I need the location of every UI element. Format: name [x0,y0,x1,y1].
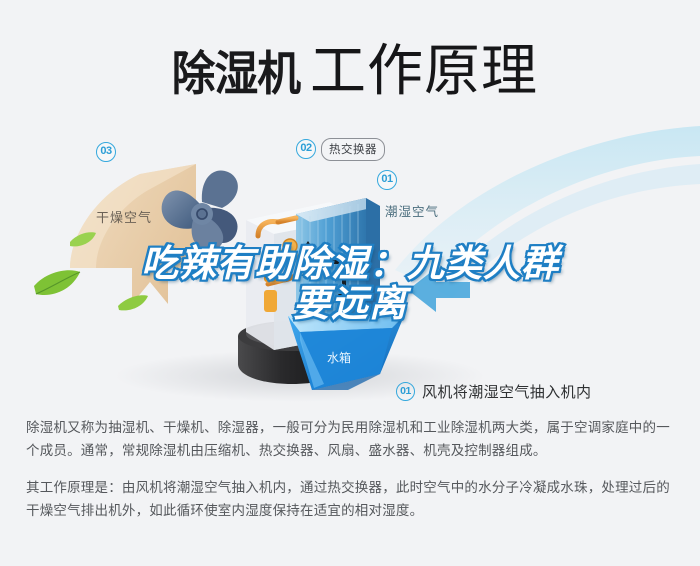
diagram-legend: 01 风机将潮湿空气抽入机内 02 潮湿空气经过蒸发器冷凝成水珠 03 从上部出… [396,374,696,408]
dehumidifier-diagram: 03 干燥空气 02 热交换器 01 潮湿空气 水箱 01 风机将潮湿空气抽入机… [0,118,700,408]
dehumidifier-infographic: 除湿机 工作原理 [0,0,700,566]
legend-badge-01: 01 [396,382,415,401]
page-title-part-a: 除湿机 [172,35,300,104]
body-paragraph-1: 除湿机又称为抽湿机、干燥机、除湿器，一般可分为民用除湿机和工业除湿机两大类，属于… [26,416,678,462]
page-title: 除湿机 工作原理 [0,26,700,102]
diagram-badge-03: 03 [96,142,116,162]
article-body: 除湿机又称为抽湿机、干燥机、除湿器，一般可分为民用除湿机和工业除湿机两大类，属于… [26,416,678,522]
page-title-part-b: 工作原理 [310,26,538,107]
label-humid-air: 潮湿空气 [385,201,439,220]
label-water-tank: 水箱 [327,349,351,366]
diagram-badge-01: 01 [377,170,397,190]
legend-item: 01 风机将潮湿空气抽入机内 [396,374,696,408]
label-dry-air: 干燥空气 [96,207,152,226]
label-heat-exchanger: 热交换器 [321,138,385,161]
body-paragraph-2: 其工作原理是：由风机将潮湿空气抽入机内，通过热交换器，此时空气中的水分子冷凝成水… [26,476,678,522]
legend-text-01: 风机将潮湿空气抽入机内 [422,381,591,402]
diagram-badge-02: 02 [296,139,316,159]
